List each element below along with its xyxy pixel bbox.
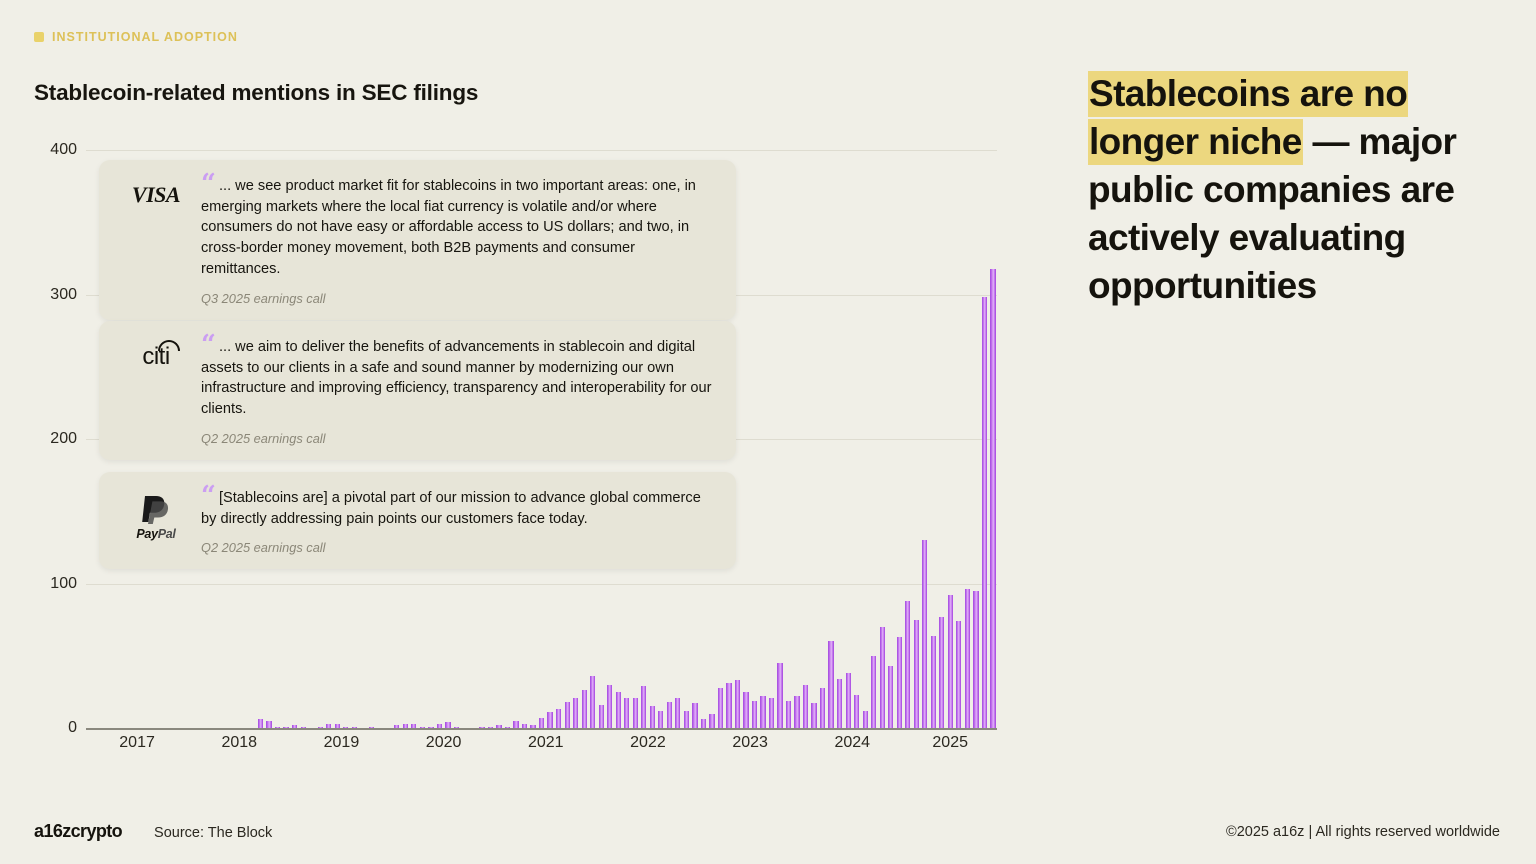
chart-bar <box>420 727 425 728</box>
x-tick-label: 2018 <box>188 734 290 752</box>
chart-bar <box>437 724 442 728</box>
quote-body: “... we aim to deliver the benefits of a… <box>197 337 718 446</box>
chart-bar-cell <box>869 150 878 728</box>
chart-bar-cell <box>801 150 810 728</box>
quote-card-visa: VISA “... we see product market fit for … <box>99 160 736 320</box>
chart-bar-cell <box>921 150 930 728</box>
paypal-mark-icon <box>139 494 173 524</box>
chart-bar <box>948 595 953 728</box>
quote-text: “[Stablecoins are] a pivotal part of our… <box>201 488 718 529</box>
quote-source: Q3 2025 earnings call <box>201 291 718 306</box>
chart-bar <box>718 688 723 728</box>
chart-bar <box>403 724 408 728</box>
chart-bar <box>522 724 527 728</box>
chart-bar <box>854 695 859 728</box>
chart-bar <box>931 636 936 728</box>
chart-bar <box>343 727 348 728</box>
quote-card-citi: citi “... we aim to deliver the benefits… <box>99 321 736 460</box>
chart-bar <box>599 705 604 728</box>
chart-bar <box>650 706 655 728</box>
source-label: Source: The Block <box>154 825 272 841</box>
x-tick-label: 2024 <box>801 734 903 752</box>
chart-bar <box>880 627 885 728</box>
quote-card-paypal: PayPal “[Stablecoins are] a pivotal part… <box>99 472 736 569</box>
eyebrow-tag: INSTITUTIONAL ADOPTION <box>34 30 238 44</box>
chart-bar <box>828 641 833 728</box>
chart-bar-cell <box>878 150 887 728</box>
chart-bar <box>428 727 433 728</box>
chart-bar <box>513 721 518 728</box>
x-tick-label: 2017 <box>86 734 188 752</box>
chart-bar <box>837 679 842 728</box>
citi-arc-icon <box>158 340 180 351</box>
chart-bar <box>786 701 791 728</box>
chart-bar <box>530 725 535 728</box>
chart-bar <box>735 680 740 728</box>
x-tick-label: 2020 <box>393 734 495 752</box>
chart-bar <box>726 683 731 728</box>
chart-bar <box>616 692 621 728</box>
quote-body: “[Stablecoins are] a pivotal part of our… <box>197 488 718 555</box>
chart-bar-cell <box>929 150 938 728</box>
chart-bar <box>318 727 323 728</box>
chart-bar <box>939 617 944 728</box>
chart-bar-cell <box>827 150 836 728</box>
chart-bar-cell <box>844 150 853 728</box>
chart-bar <box>863 711 868 728</box>
quote-mark-icon: “ <box>201 169 216 199</box>
chart-bar <box>743 692 748 728</box>
chart-bar <box>777 663 782 728</box>
chart-bar-cell <box>835 150 844 728</box>
chart-bar <box>982 297 987 728</box>
chart-bar <box>505 727 510 728</box>
chart-bar-cell <box>895 150 904 728</box>
chart-bar <box>565 702 570 728</box>
chart-bar <box>479 727 484 728</box>
chart-bar <box>692 703 697 728</box>
chart-bar <box>675 698 680 728</box>
chart-bar <box>301 727 306 728</box>
chart-bar <box>846 673 851 728</box>
chart-bar <box>769 698 774 728</box>
eyebrow-square-icon <box>34 32 44 42</box>
chart-bar-cell <box>776 150 785 728</box>
slide-root: INSTITUTIONAL ADOPTION Stablecoin-relate… <box>0 0 1536 864</box>
quote-body: “... we see product market fit for stabl… <box>197 176 718 306</box>
page-title: Stablecoin-related mentions in SEC filin… <box>34 80 478 106</box>
chart-bar-cell <box>759 150 768 728</box>
chart-bar-cell <box>793 150 802 728</box>
chart-bar <box>905 601 910 728</box>
footer-left: a16zcrypto Source: The Block <box>34 821 272 842</box>
chart-bar <box>496 725 501 728</box>
chart-bar <box>803 685 808 728</box>
chart-bar-cell <box>750 150 759 728</box>
chart-bar <box>326 724 331 728</box>
chart-bar-cell <box>767 150 776 728</box>
chart-bar <box>547 712 552 728</box>
x-tick-label: 2021 <box>495 734 597 752</box>
y-tick-label: 0 <box>68 719 77 737</box>
chart-bar-cell <box>861 150 870 728</box>
copyright-label: ©2025 a16z | All rights reserved worldwi… <box>1226 824 1500 840</box>
chart-bar <box>258 719 263 728</box>
chart-bar <box>582 690 587 728</box>
x-tick-label: 2019 <box>290 734 392 752</box>
quote-mark-icon: “ <box>201 481 216 511</box>
chart-bar <box>641 686 646 728</box>
chart-bar <box>369 727 374 728</box>
chart-bar-cell <box>904 150 913 728</box>
chart-bar-cell <box>818 150 827 728</box>
chart-bar <box>709 714 714 728</box>
chart-bar-cell <box>972 150 981 728</box>
headline: Stablecoins are no longer niche — major … <box>1088 70 1498 310</box>
chart-bar <box>266 721 271 728</box>
chart-bar <box>590 676 595 728</box>
y-tick-label: 400 <box>50 141 77 159</box>
y-tick-label: 100 <box>50 575 77 593</box>
chart-bar <box>752 701 757 728</box>
chart-bar-cell <box>784 150 793 728</box>
chart-bar <box>352 727 357 728</box>
chart-bar <box>633 698 638 728</box>
chart-bar <box>897 637 902 728</box>
chart-x-axis: 201720182019202020212022202320242025 <box>86 734 997 752</box>
chart-bar <box>394 725 399 728</box>
eyebrow-label: INSTITUTIONAL ADOPTION <box>52 30 238 44</box>
chart-bar-cell <box>912 150 921 728</box>
quote-text: “... we see product market fit for stabl… <box>201 176 718 280</box>
a16zcrypto-logo: a16zcrypto <box>34 821 122 842</box>
chart-bar <box>539 718 544 728</box>
citi-logo-icon: citi <box>115 337 197 446</box>
chart-bar-cell <box>955 150 964 728</box>
chart-bar <box>292 725 297 728</box>
x-tick-label: 2022 <box>597 734 699 752</box>
chart-bar <box>760 696 765 728</box>
chart-bar <box>488 727 493 728</box>
chart-bar <box>973 591 978 728</box>
chart-bar-cell <box>86 150 95 728</box>
quote-source: Q2 2025 earnings call <box>201 431 718 446</box>
quote-source: Q2 2025 earnings call <box>201 540 718 555</box>
quote-text: “... we aim to deliver the benefits of a… <box>201 337 718 420</box>
paypal-logo-icon: PayPal <box>115 488 197 555</box>
chart-bar-cell <box>742 150 751 728</box>
chart-bar <box>454 727 459 728</box>
chart-bar <box>914 620 919 728</box>
chart-bar <box>411 724 416 728</box>
chart-bar <box>658 711 663 728</box>
chart-bar-cell <box>963 150 972 728</box>
x-tick-label: 2025 <box>903 734 997 752</box>
chart-bar <box>965 589 970 728</box>
paypal-wordmark: PayPal <box>136 527 175 541</box>
gridline-0 <box>86 728 997 730</box>
y-tick-label: 200 <box>50 430 77 448</box>
chart-bar <box>667 702 672 728</box>
chart-bar-cell <box>852 150 861 728</box>
chart-bar <box>794 696 799 728</box>
chart-bar <box>275 727 280 728</box>
chart-bar <box>990 269 995 729</box>
quote-mark-icon: “ <box>201 330 216 360</box>
y-tick-label: 300 <box>50 286 77 304</box>
chart-bar-cell <box>810 150 819 728</box>
chart-bar-cell <box>886 150 895 728</box>
chart-bar <box>283 727 288 728</box>
visa-logo-icon: VISA <box>115 176 197 306</box>
chart-bar-cell <box>980 150 989 728</box>
chart-bar <box>871 656 876 728</box>
chart-bar <box>335 724 340 728</box>
chart-bar <box>445 722 450 728</box>
x-tick-label: 2023 <box>699 734 801 752</box>
chart-bar-cell <box>989 150 998 728</box>
chart-bar <box>607 685 612 728</box>
chart-bar <box>684 711 689 728</box>
chart-bar-cell <box>946 150 955 728</box>
chart-bar <box>556 709 561 728</box>
chart-bar <box>888 666 893 728</box>
chart-bar <box>811 703 816 728</box>
chart-bar-cell <box>938 150 947 728</box>
chart-bar <box>624 698 629 728</box>
chart-bar <box>820 688 825 728</box>
chart-bar <box>956 621 961 728</box>
chart-bar <box>701 719 706 728</box>
chart-bar <box>922 540 927 728</box>
chart-bar <box>573 698 578 728</box>
